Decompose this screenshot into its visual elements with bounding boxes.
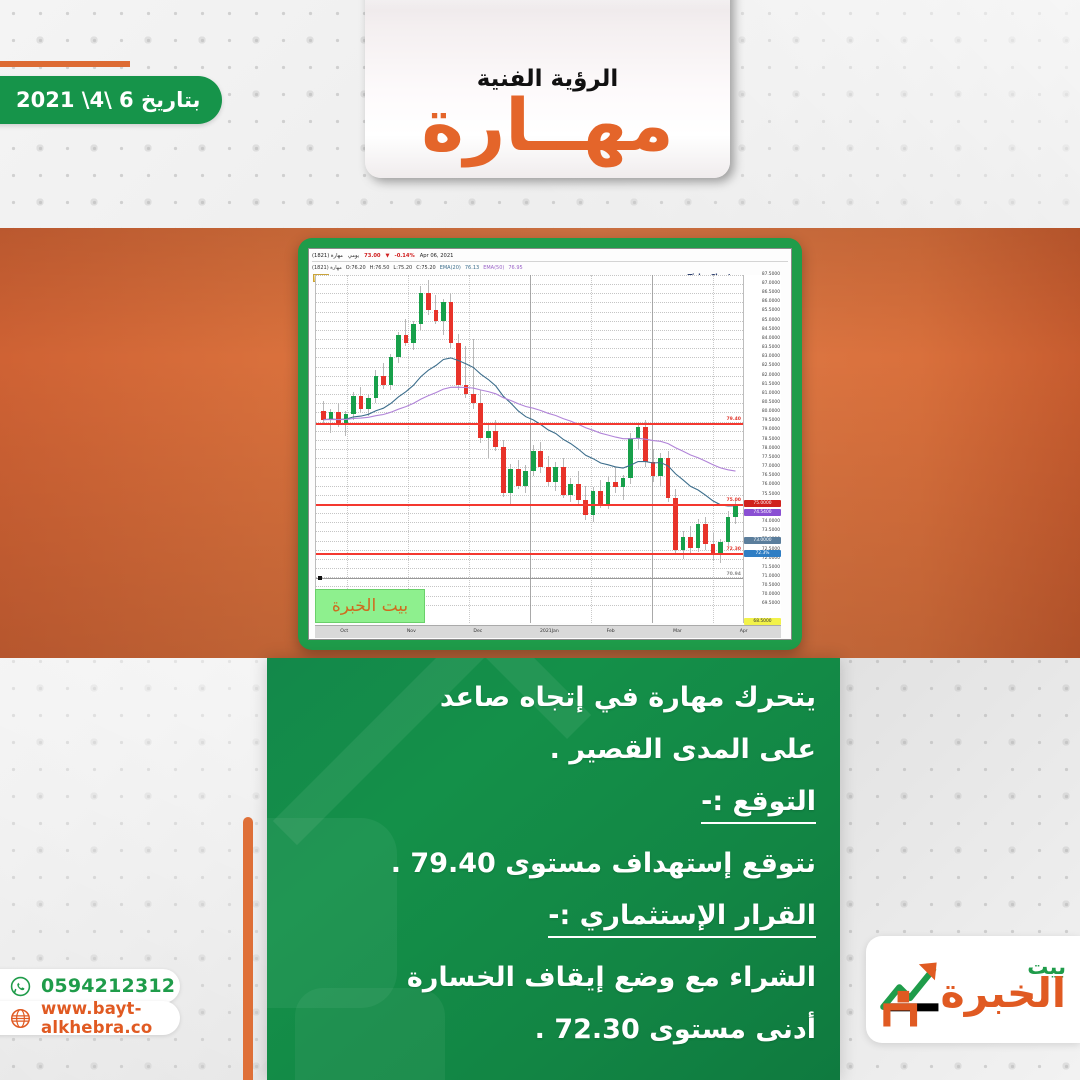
vertical-accent-bar [243, 817, 253, 1080]
forecast-text: نتوقع إستهداف مستوى 79.40 . [291, 850, 816, 877]
chart-gridline-v [530, 275, 531, 623]
candle-body [404, 335, 409, 342]
candle-body [501, 447, 506, 493]
title-card-sheen [365, 0, 730, 10]
candle-body [621, 478, 626, 487]
candle-body [561, 467, 566, 494]
time-axis-tick: Nov [407, 629, 416, 634]
price-axis-tick: 77.5000 [762, 456, 780, 460]
price-axis-tick: 76.0000 [762, 483, 780, 487]
logo-text-main: الخبرة [941, 973, 1066, 1014]
date-badge: بتاريخ 6 \4\ 2021 [0, 76, 222, 124]
price-axis-tick: 87.0000 [762, 282, 780, 286]
decision-label-row: القرار الإستثماري :- [291, 902, 816, 964]
candle-body [374, 376, 379, 398]
top-accent-rule [0, 61, 130, 67]
chart-header-line-2: مهارة (1821) O:76.20 H:76.50 L:75.20 C:7… [312, 263, 788, 272]
chart-anchor-marker [318, 576, 322, 580]
candle-body [456, 343, 461, 385]
chart-gridline-v [408, 275, 409, 623]
price-tag: 68.5000 [744, 618, 781, 625]
title-card: الرؤية الفنية مهــارة [365, 0, 730, 178]
candle-body [419, 293, 424, 324]
candle-body [636, 427, 641, 438]
candle-body [643, 427, 648, 462]
level-line-79.40 [316, 423, 743, 425]
chart-inner: مهارة (1821) يومي 73.00 ▼ -0.14% Apr 06,… [308, 248, 792, 640]
price-axis-tick: 73.5000 [762, 529, 780, 533]
candle-body [411, 324, 416, 342]
time-axis-tick: Feb [607, 629, 615, 634]
candle-body [658, 458, 663, 476]
price-axis-tick: 75.5000 [762, 493, 780, 497]
chart-ema20-value: 76.13 [465, 265, 479, 271]
chart-time-axis: OctNovDec2021JanFebMarApr [315, 625, 781, 638]
candle-body [726, 517, 731, 543]
time-axis-tick: Mar [673, 629, 682, 634]
candle-body [576, 484, 581, 500]
price-axis-tick: 78.5000 [762, 438, 780, 442]
price-axis-tick: 86.5000 [762, 291, 780, 295]
candle-body [688, 537, 693, 548]
candle-body [703, 524, 708, 544]
candle-body [673, 498, 678, 549]
candle-body [434, 310, 439, 321]
analysis-line-2: على المدى القصير . [291, 736, 816, 763]
candle-body [613, 482, 618, 487]
whatsapp-icon [10, 976, 31, 997]
candle-body [516, 469, 521, 485]
level-line-70.94 [316, 578, 743, 579]
price-axis-tick: 71.5000 [762, 566, 780, 570]
chart-direction-arrow-icon: ▼ [386, 253, 390, 259]
candle-body [359, 396, 364, 409]
candle-body [396, 335, 401, 357]
analysis-line-1: يتحرك مهارة في إتجاه صاعد [291, 684, 816, 711]
price-axis-tick: 79.5000 [762, 419, 780, 423]
candle-body [508, 469, 513, 493]
price-axis-tick: 70.5000 [762, 584, 780, 588]
price-axis-tick: 83.5000 [762, 346, 780, 350]
price-tag: 75.0000 [744, 500, 781, 507]
time-axis-tick: Apr [740, 629, 748, 634]
price-axis-tick: 81.5000 [762, 383, 780, 387]
chart-plot-area[interactable]: 79.4075.0072.3070.94 [315, 275, 743, 623]
chart-watermark: بيت الخبرة [315, 589, 425, 623]
candle-body [464, 385, 469, 394]
candle-body [478, 403, 483, 438]
level-label-72.30: 72.30 [726, 547, 741, 552]
level-label-79.40: 79.40 [726, 417, 741, 422]
candle-body [628, 438, 633, 478]
logo-wrap: بيت الخبرة [878, 947, 1068, 1033]
chart-ohlc-symbol: مهارة (1821) [312, 265, 342, 271]
globe-icon [10, 1008, 31, 1029]
chart-low: L:75.20 [393, 265, 412, 271]
brand-logo[interactable]: بيت الخبرة [866, 936, 1080, 1043]
candle-body [389, 357, 394, 384]
price-axis-tick: 87.5000 [762, 273, 780, 277]
level-label-75.00: 75.00 [726, 498, 741, 503]
candle-body [531, 451, 536, 471]
chart-card: مهارة (1821) يومي 73.00 ▼ -0.14% Apr 06,… [298, 238, 802, 650]
candle-body [651, 462, 656, 477]
forecast-label-row: التوقع :- [291, 788, 816, 850]
chart-close: C:75.20 [416, 265, 436, 271]
candle-body [351, 396, 356, 414]
chart-gridline-v [713, 275, 714, 623]
chart-header-line-1: مهارة (1821) يومي 73.00 ▼ -0.14% Apr 06,… [312, 251, 788, 262]
chart-timeframe: يومي [348, 253, 359, 259]
chart-last-price: 73.00 [364, 253, 380, 259]
chart-ema20-label: EMA(20) [440, 265, 461, 271]
title-main: مهــارة [421, 88, 673, 164]
candle-body [568, 484, 573, 495]
chart-ema50-value: 76.95 [508, 265, 522, 271]
price-axis-tick: 78.0000 [762, 447, 780, 451]
candle-body [546, 467, 551, 482]
price-axis-tick: 85.0000 [762, 319, 780, 323]
chart-date: Apr 06, 2021 [420, 253, 454, 259]
candle-body [493, 431, 498, 447]
chart-change-percent: -0.14% [395, 253, 415, 259]
chart-gridline-v [469, 275, 470, 623]
chart-open: O:76.20 [346, 265, 366, 271]
candle-body [329, 412, 334, 419]
chart-symbol: مهارة (1821) [312, 253, 343, 259]
level-label-70.94: 70.94 [726, 572, 741, 577]
price-axis-tick: 72.0000 [762, 557, 780, 561]
time-axis-tick: Oct [340, 629, 348, 634]
candle-body [523, 471, 528, 486]
price-axis-tick: 79.0000 [762, 428, 780, 432]
price-axis-tick: 71.0000 [762, 575, 780, 579]
decision-label: القرار الإستثماري :- [548, 902, 816, 938]
poster-canvas: بتاريخ 6 \4\ 2021 الرؤية الفنية مهــارة … [0, 0, 1080, 1080]
candle-body [696, 524, 701, 548]
price-axis-tick: 70.0000 [762, 593, 780, 597]
price-axis-tick: 80.0000 [762, 410, 780, 414]
price-tag: 73.0000 [744, 537, 781, 544]
price-axis-tick: 83.0000 [762, 355, 780, 359]
price-axis-tick: 77.0000 [762, 465, 780, 469]
chart-high: H:76.50 [370, 265, 390, 271]
candle-body [583, 500, 588, 515]
decision-text-1: الشراء مع وضع إيقاف الخسارة [291, 964, 816, 991]
phone-number: 0594212312 [41, 975, 175, 997]
analysis-panel: يتحرك مهارة في إتجاه صاعد على المدى القص… [267, 658, 840, 1080]
chart-price-axis: 87.500087.000086.500086.000085.500085.00… [743, 275, 781, 623]
candle-body [441, 302, 446, 320]
analysis-text-block: يتحرك مهارة في إتجاه صاعد على المدى القص… [291, 684, 816, 1068]
level-line-75.00 [316, 504, 743, 506]
candle-body [681, 537, 686, 550]
price-tag: 74.5400 [744, 509, 781, 516]
price-axis-tick: 82.5000 [762, 364, 780, 368]
chart-ema50-label: EMA(50) [483, 265, 504, 271]
time-axis-tick: 2021Jan [540, 629, 559, 634]
candle-body [598, 491, 603, 504]
forecast-label: التوقع :- [701, 788, 816, 824]
price-axis-tick: 80.5000 [762, 401, 780, 405]
candle-body [449, 302, 454, 342]
price-axis-tick: 69.5000 [762, 602, 780, 606]
date-badge-label: بتاريخ 6 \4\ 2021 [16, 88, 200, 112]
candle-body [486, 431, 491, 438]
price-axis-tick: 85.5000 [762, 309, 780, 313]
price-axis-tick: 84.5000 [762, 328, 780, 332]
candle-body [538, 451, 543, 467]
level-line-72.30 [316, 553, 743, 555]
time-axis-tick: Dec [473, 629, 482, 634]
price-axis-tick: 81.0000 [762, 392, 780, 396]
price-axis-tick: 84.0000 [762, 337, 780, 341]
price-axis-tick: 74.0000 [762, 520, 780, 524]
price-tag: 72.3% [744, 550, 781, 557]
decision-text-2: أدنى مستوى 72.30 . [291, 1016, 816, 1043]
candle-body [471, 394, 476, 403]
contact-website[interactable]: www.bayt-alkhebra.co [0, 1001, 180, 1035]
chart-gridline-v [591, 275, 592, 623]
candle-wick [615, 467, 616, 493]
contact-phone[interactable]: 0594212312 [0, 969, 180, 1003]
candle-body [381, 376, 386, 385]
price-axis-tick: 86.0000 [762, 300, 780, 304]
candle-body [606, 482, 611, 504]
candle-body [666, 458, 671, 498]
logo-text: بيت الخبرة [941, 957, 1066, 1014]
candle-body [366, 398, 371, 409]
candle-body [553, 467, 558, 482]
candle-body [321, 411, 326, 420]
price-axis-tick: 82.0000 [762, 374, 780, 378]
candle-body [426, 293, 431, 309]
price-axis-tick: 76.5000 [762, 474, 780, 478]
chart-gridline-v [347, 275, 348, 623]
website-url: www.bayt-alkhebra.co [41, 999, 180, 1037]
